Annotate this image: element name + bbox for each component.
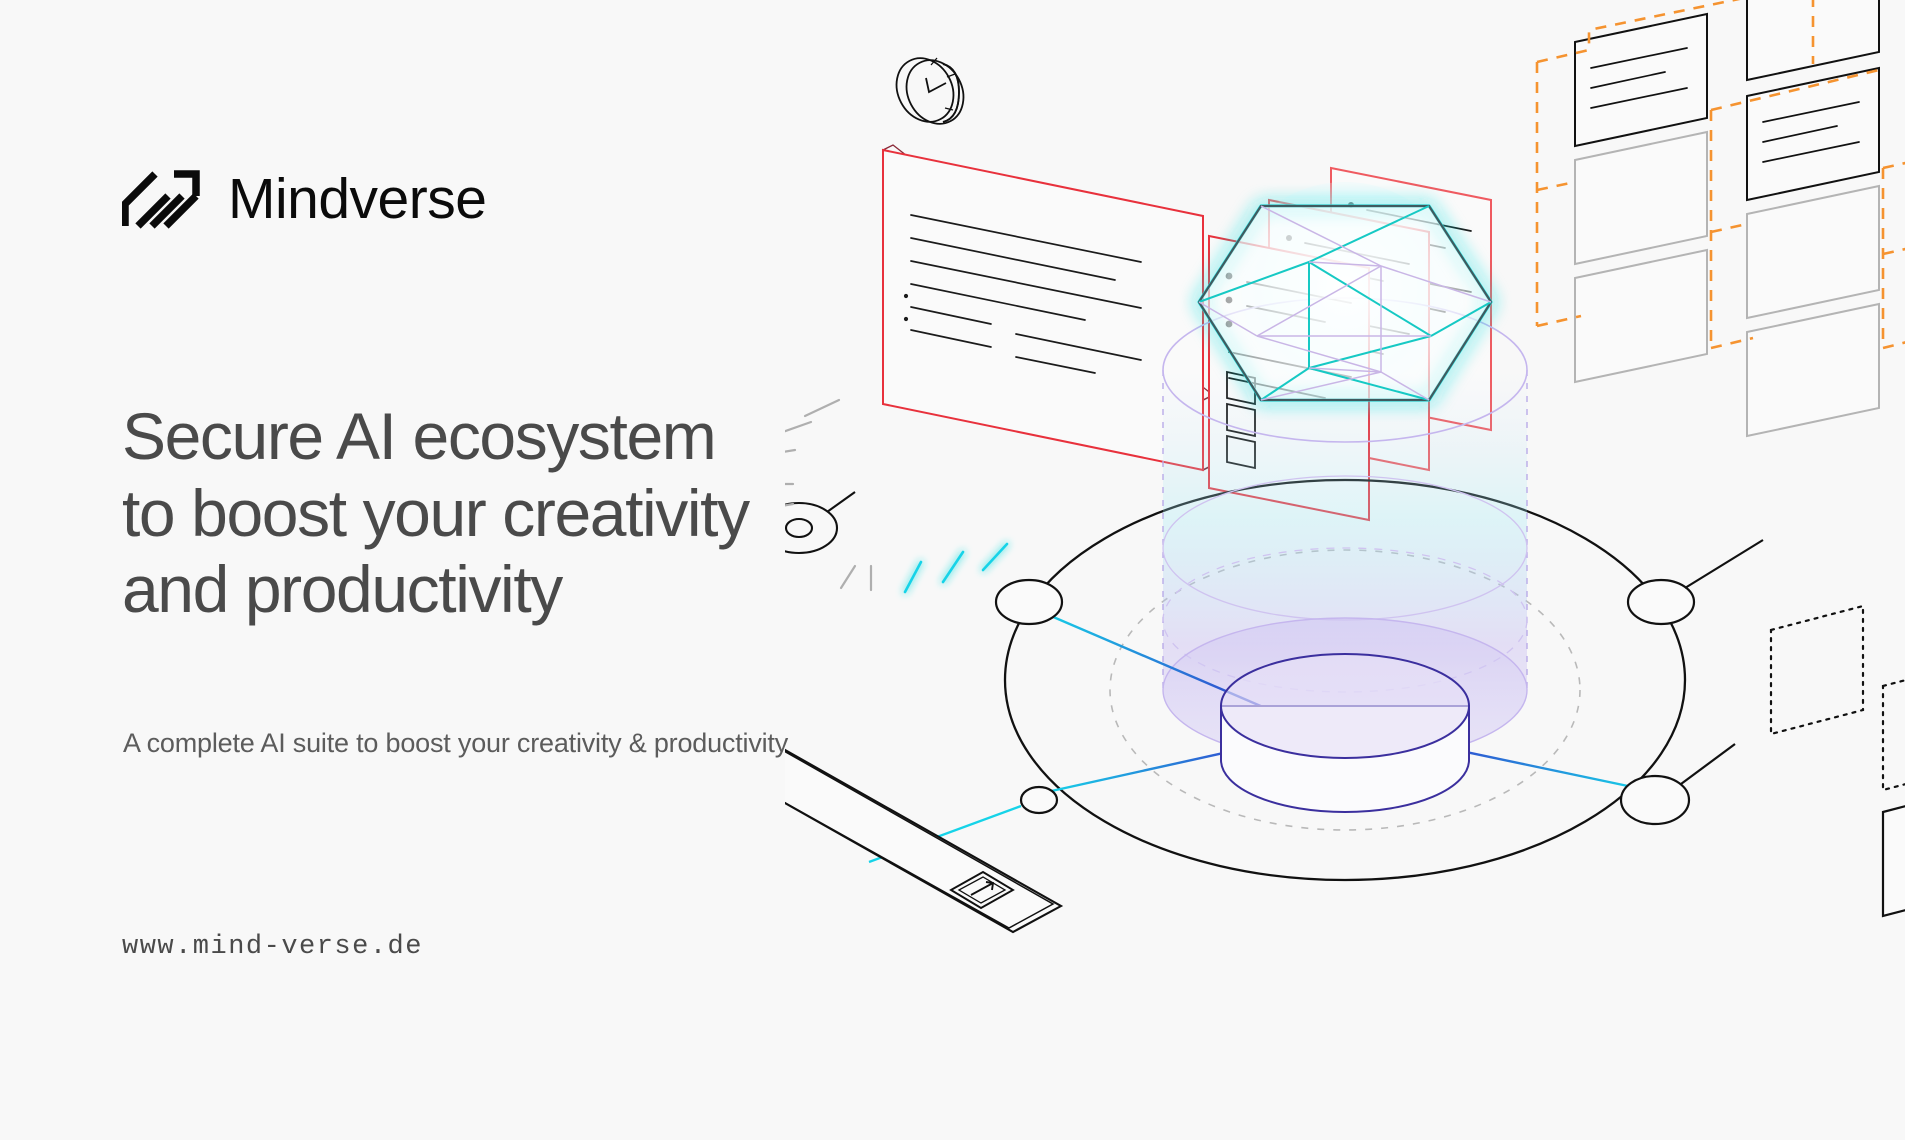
orbit-node-nw [996,580,1062,624]
red-list-card-back [1331,168,1491,430]
orbit-ring-inner-dashed [1110,550,1580,830]
red-list-card-mid [1269,200,1429,470]
panel-grid-orange-dashed [1537,0,1905,436]
red-document-card [883,145,1213,470]
cyan-motion-dashes [905,544,1007,592]
orbit-node-ne [1628,540,1763,624]
radiating-dashes [785,400,871,590]
glowing-icosahedron [1199,182,1491,418]
cyan-connector-lines [869,806,1021,862]
dotted-panel-lower [1883,662,1905,790]
mindverse-striped-n-logo-icon [122,168,200,230]
brand-lockup[interactable]: Mindverse [122,168,486,230]
translucent-cylinder [1163,298,1527,762]
purple-base-disc [1221,654,1469,812]
website-url[interactable]: www.mind-verse.de [122,932,423,962]
brand-name: Mindverse [228,171,486,228]
orbit-node-se [1621,744,1735,824]
orbit-ring [1005,480,1685,880]
panel-column-b [1747,0,1879,436]
arrow-submit-icon [951,872,1013,908]
isometric-ai-ecosystem-illustration [785,0,1905,1140]
orbit-node-sw [1021,787,1057,813]
orbit-spokes [1037,610,1647,792]
page-subtitle: A complete AI suite to boost your creati… [123,728,788,759]
panel-column-a [1575,14,1707,382]
eye-icon-group [785,492,855,553]
page-title: Secure AI ecosystem to boost your creati… [122,398,749,628]
cyan-motion-dashes-core [905,544,1007,592]
dotted-panel-upper [1771,606,1863,734]
solid-panel-bottom [1883,788,1905,916]
clock-icon [886,48,975,134]
search-bar-isometric [785,716,1061,932]
red-list-card-front [1209,236,1369,520]
